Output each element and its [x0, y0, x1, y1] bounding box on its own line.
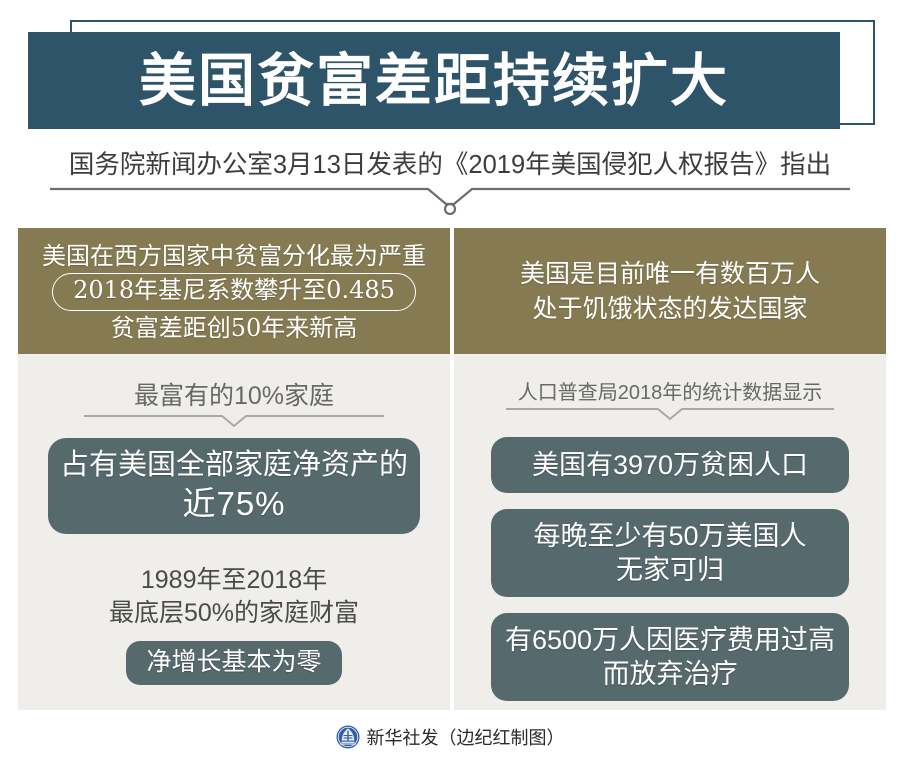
- right-stat-box-1: 美国有3970万贫困人口: [491, 437, 849, 493]
- right-stat-box-3: 有6500万人因医疗费用过高 而放弃治疗: [491, 613, 849, 701]
- right-panel-header: 美国是目前唯一有数百万人 处于饥饿状态的发达国家: [454, 228, 886, 354]
- title-bar: 美国贫富差距持续扩大: [28, 32, 840, 129]
- right-panel-body: 人口普查局2018年的统计数据显示 美国有3970万贫困人口 每晚至少有50万美…: [454, 354, 886, 710]
- page-title: 美国贫富差距持续扩大: [139, 52, 729, 109]
- left-panel-body: 最富有的10%家庭 占有美国全部家庭净资产的 近75% 1989年至2018年 …: [18, 354, 450, 710]
- gini-coefficient-pill: 2018年基尼系数攀升至0.485: [52, 273, 416, 310]
- footer: 新华社发（边纪红制图）: [0, 716, 900, 758]
- left-main-stat-line1: 占有美国全部家庭净资产的: [60, 447, 408, 484]
- right-stat-box-3-line1: 有6500万人因医疗费用过高: [505, 623, 835, 657]
- right-header-line1: 美国是目前唯一有数百万人: [520, 256, 820, 292]
- left-plain-text-block: 1989年至2018年 最底层50%的家庭财富: [18, 564, 450, 629]
- left-header-line3: 贫富差距创50年来新高: [111, 312, 358, 344]
- xinhua-emblem-icon: [336, 725, 360, 749]
- subtitle-text: 国务院新闻办公室3月13日发表的《2019年美国侵犯人权报告》指出: [0, 144, 900, 181]
- left-panel-header: 美国在西方国家中贫富分化最为严重 2018年基尼系数攀升至0.485 贫富差距创…: [18, 228, 450, 354]
- title-block: 美国贫富差距持续扩大: [0, 0, 900, 140]
- right-stat-box-1-line1: 美国有3970万贫困人口: [532, 448, 808, 482]
- columns-container: 美国在西方国家中贫富分化最为严重 2018年基尼系数攀升至0.485 贫富差距创…: [0, 228, 900, 710]
- right-stat-box-2: 每晚至少有50万美国人 无家可归: [491, 509, 849, 597]
- left-zero-growth-box: 净增长基本为零: [126, 641, 342, 685]
- right-notch-rule: [506, 407, 834, 421]
- right-header-line2: 处于饥饿状态的发达国家: [532, 291, 807, 327]
- left-notch-rule: [84, 414, 384, 428]
- left-zero-growth-text: 净增长基本为零: [146, 647, 321, 679]
- right-panel: 美国是目前唯一有数百万人 处于饥饿状态的发达国家 人口普查局2018年的统计数据…: [454, 228, 886, 710]
- left-main-stat-line2: 近75%: [182, 483, 285, 525]
- footer-credit-text: 新华社发（边纪红制图）: [367, 724, 565, 750]
- left-main-stat-box: 占有美国全部家庭净资产的 近75%: [48, 438, 420, 534]
- right-caption: 人口普查局2018年的统计数据显示: [454, 354, 886, 405]
- left-caption: 最富有的10%家庭: [18, 354, 450, 412]
- subtitle-connector-rule: [50, 187, 850, 215]
- left-header-line1: 美国在西方国家中贫富分化最为严重: [42, 240, 426, 272]
- right-stat-box-2-line2: 无家可归: [616, 553, 724, 587]
- left-plain-line2: 最底层50%的家庭财富: [18, 597, 450, 630]
- right-stat-box-3-line2: 而放弃治疗: [603, 657, 738, 691]
- right-stat-box-2-line1: 每晚至少有50万美国人: [533, 519, 806, 553]
- left-panel: 美国在西方国家中贫富分化最为严重 2018年基尼系数攀升至0.485 贫富差距创…: [18, 228, 450, 710]
- subtitle-block: 国务院新闻办公室3月13日发表的《2019年美国侵犯人权报告》指出: [0, 140, 900, 215]
- left-plain-line1: 1989年至2018年: [18, 564, 450, 597]
